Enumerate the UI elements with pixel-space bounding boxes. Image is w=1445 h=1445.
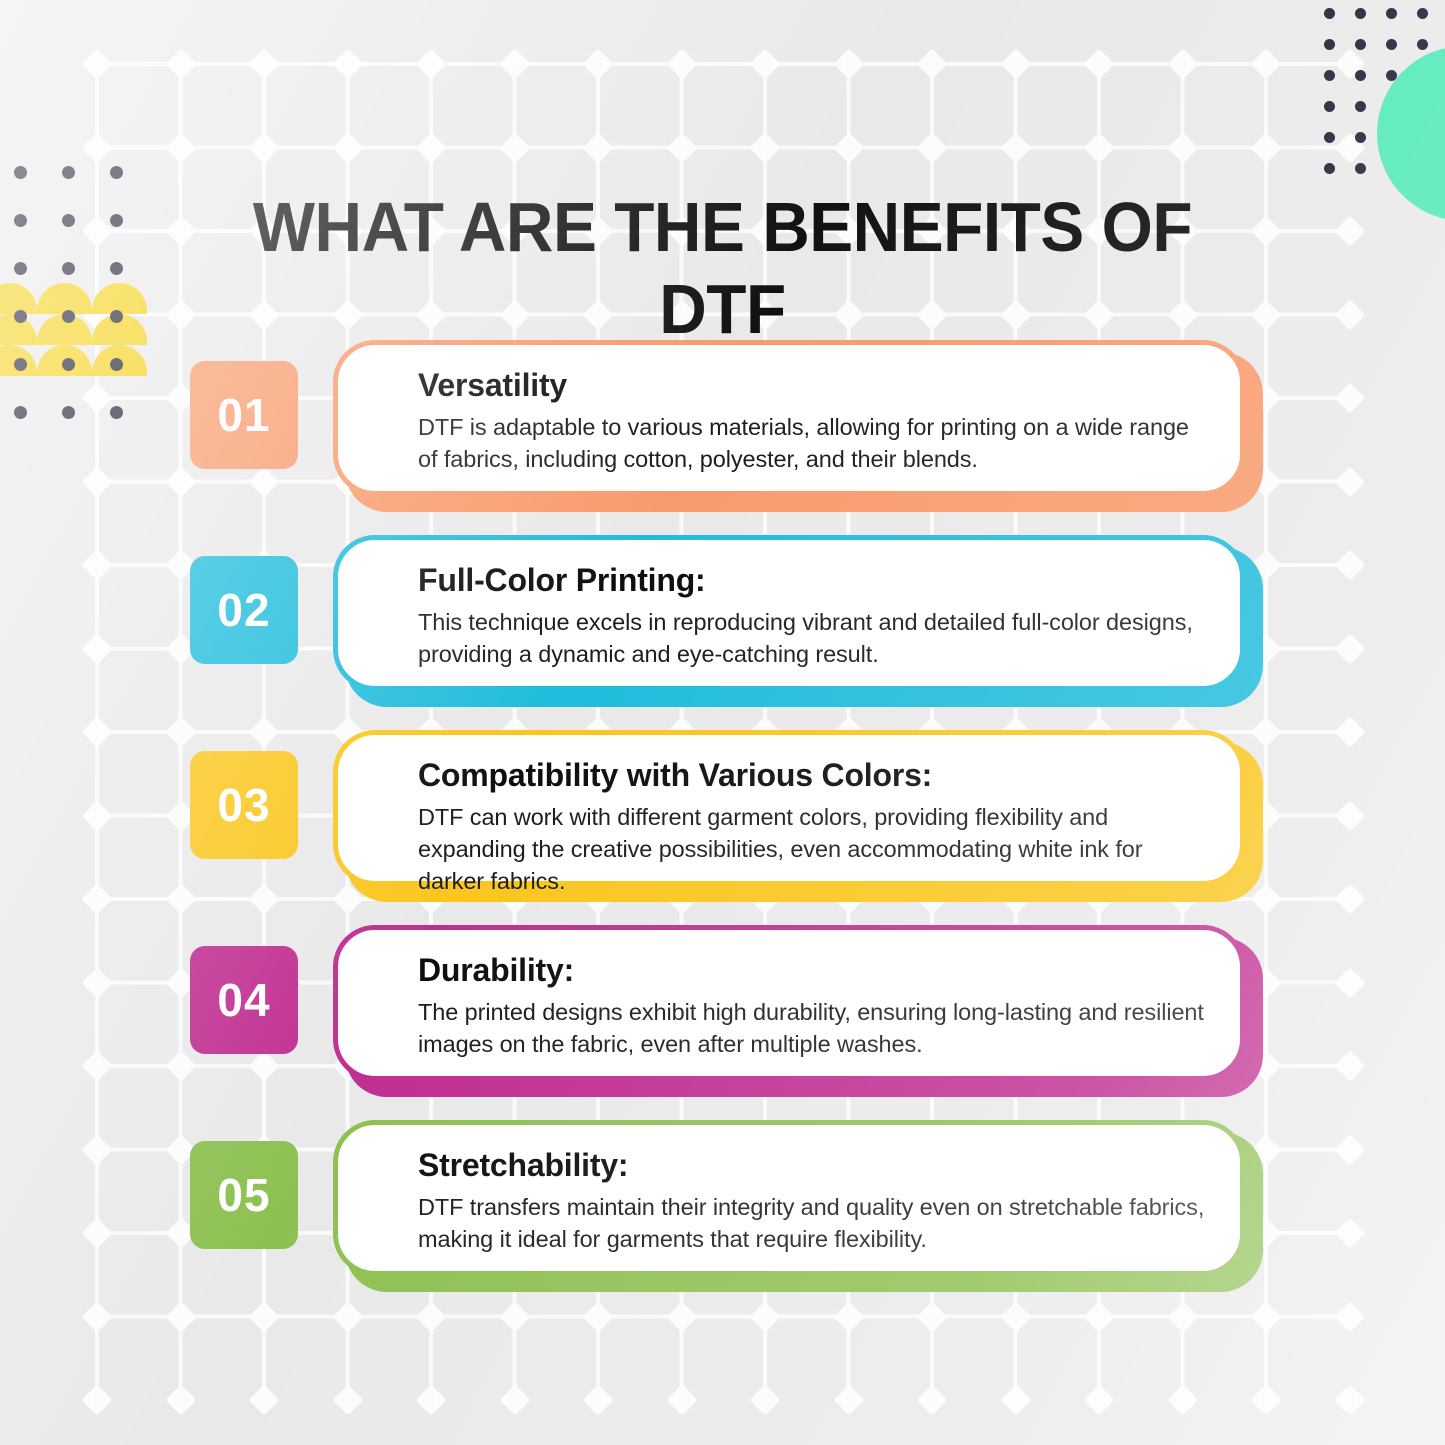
grid-diamond xyxy=(666,48,697,79)
grid-diamond xyxy=(916,48,947,79)
grid-diamond xyxy=(1167,1384,1198,1415)
decorative-dot xyxy=(1324,70,1335,81)
benefit-description: This technique excels in reproducing vib… xyxy=(418,607,1206,671)
benefit-card-wrapper: Compatibility with Various Colors:DTF ca… xyxy=(333,730,1263,902)
grid-diamond xyxy=(1000,132,1031,163)
decorative-dot xyxy=(1386,39,1397,50)
grid-diamond xyxy=(1250,1384,1281,1415)
benefit-number-badge: 03 xyxy=(190,751,298,859)
benefit-number-badge: 01 xyxy=(190,361,298,469)
grid-diamond xyxy=(582,1384,613,1415)
grid-diamond xyxy=(1083,1384,1114,1415)
benefit-heading: Full-Color Printing: xyxy=(418,562,1206,599)
grid-diamond xyxy=(165,1384,196,1415)
benefit-card: VersatilityDTF is adaptable to various m… xyxy=(333,340,1245,496)
benefit-number: 03 xyxy=(217,778,270,832)
decorative-dot xyxy=(1324,132,1335,143)
grid-diamond xyxy=(165,48,196,79)
decorative-dot xyxy=(14,310,27,323)
benefit-number-badge: 04 xyxy=(190,946,298,1054)
decorative-dot xyxy=(110,214,123,227)
grid-diamond xyxy=(833,48,864,79)
grid-diamond xyxy=(1250,48,1281,79)
decorative-dot xyxy=(14,262,27,275)
decorative-dot xyxy=(1355,101,1366,112)
grid-diamond xyxy=(415,132,446,163)
benefit-card-wrapper: Stretchability:DTF transfers maintain th… xyxy=(333,1120,1263,1292)
decorative-dot xyxy=(14,166,27,179)
grid-diamond xyxy=(1083,132,1114,163)
benefit-heading: Durability: xyxy=(418,952,1206,989)
benefit-number: 05 xyxy=(217,1168,270,1222)
benefit-card: Full-Color Printing:This technique excel… xyxy=(333,535,1245,691)
benefit-description: DTF transfers maintain their integrity a… xyxy=(418,1192,1206,1256)
decorative-dot xyxy=(1324,8,1335,19)
benefit-card-wrapper: Full-Color Printing:This technique excel… xyxy=(333,535,1263,707)
benefit-number: 04 xyxy=(217,973,270,1027)
grid-diamond xyxy=(666,1384,697,1415)
grid-diamond xyxy=(81,48,112,79)
page-title-line-1: WHAT ARE THE BENEFITS OF DTF xyxy=(253,188,1192,348)
grid-diamond xyxy=(1334,299,1365,330)
decorative-dot xyxy=(1355,39,1366,50)
benefit-card-wrapper: VersatilityDTF is adaptable to various m… xyxy=(333,340,1263,512)
decorative-dot xyxy=(62,262,75,275)
grid-diamond xyxy=(248,132,279,163)
grid-diamond xyxy=(749,48,780,79)
grid-diamond xyxy=(415,48,446,79)
grid-diamond xyxy=(833,1384,864,1415)
grid-diamond xyxy=(666,132,697,163)
grid-diamond xyxy=(165,132,196,163)
grid-diamond xyxy=(582,132,613,163)
benefit-heading: Versatility xyxy=(418,367,1206,404)
grid-diamond xyxy=(499,48,530,79)
grid-diamond xyxy=(1167,132,1198,163)
grid-diamond xyxy=(916,1384,947,1415)
decorative-dot xyxy=(1355,8,1366,19)
grid-diamond xyxy=(415,1384,446,1415)
decorative-dot xyxy=(62,214,75,227)
decorative-dot xyxy=(1355,163,1366,174)
grid-diamond xyxy=(749,1384,780,1415)
benefit-card-wrapper: Durability:The printed designs exhibit h… xyxy=(333,925,1263,1097)
grid-diamond xyxy=(833,132,864,163)
benefit-item: 04Durability:The printed designs exhibit… xyxy=(0,925,1445,1120)
benefit-description: DTF is adaptable to various materials, a… xyxy=(418,412,1206,476)
decorative-dot xyxy=(110,262,123,275)
benefit-heading: Stretchability: xyxy=(418,1147,1206,1184)
grid-diamond xyxy=(248,48,279,79)
benefit-heading: Compatibility with Various Colors: xyxy=(418,757,1206,794)
grid-diamond xyxy=(1334,1384,1365,1415)
grid-diamond xyxy=(332,1384,363,1415)
decorative-dot xyxy=(14,214,27,227)
grid-diamond xyxy=(248,1384,279,1415)
grid-diamond xyxy=(1083,48,1114,79)
benefit-item: 01VersatilityDTF is adaptable to various… xyxy=(0,340,1445,535)
decorative-dot xyxy=(1324,101,1335,112)
benefit-card: Compatibility with Various Colors:DTF ca… xyxy=(333,730,1245,886)
benefit-number: 01 xyxy=(217,388,270,442)
benefit-item: 05Stretchability:DTF transfers maintain … xyxy=(0,1120,1445,1315)
grid-diamond xyxy=(81,132,112,163)
grid-diamond xyxy=(499,1384,530,1415)
grid-diamond xyxy=(1250,132,1281,163)
grid-diamond xyxy=(1000,48,1031,79)
decorative-dot xyxy=(110,310,123,323)
benefit-description: DTF can work with different garment colo… xyxy=(418,802,1206,898)
grid-diamond xyxy=(1334,215,1365,246)
decorative-dot xyxy=(1417,8,1428,19)
benefit-number: 02 xyxy=(217,583,270,637)
grid-diamond xyxy=(332,132,363,163)
benefits-list: 01VersatilityDTF is adaptable to various… xyxy=(0,340,1445,1315)
grid-diamond xyxy=(332,48,363,79)
grid-diamond xyxy=(81,1384,112,1415)
decorative-dot xyxy=(1324,163,1335,174)
decorative-dot xyxy=(1386,8,1397,19)
decorative-dot xyxy=(1324,39,1335,50)
benefit-card: Durability:The printed designs exhibit h… xyxy=(333,925,1245,1081)
benefit-item: 02Full-Color Printing:This technique exc… xyxy=(0,535,1445,730)
grid-diamond xyxy=(1000,1384,1031,1415)
benefit-item: 03Compatibility with Various Colors:DTF … xyxy=(0,730,1445,925)
grid-diamond xyxy=(916,132,947,163)
grid-diamond xyxy=(582,48,613,79)
decorative-dot xyxy=(62,166,75,179)
grid-diamond xyxy=(1167,48,1198,79)
decorative-dot xyxy=(110,166,123,179)
benefit-card: Stretchability:DTF transfers maintain th… xyxy=(333,1120,1245,1276)
grid-diamond xyxy=(499,132,530,163)
decorative-dot xyxy=(1355,70,1366,81)
grid-diamond xyxy=(749,132,780,163)
benefit-description: The printed designs exhibit high durabil… xyxy=(418,997,1206,1061)
decorative-dot xyxy=(1355,132,1366,143)
decorative-dot xyxy=(62,310,75,323)
benefit-number-badge: 05 xyxy=(190,1141,298,1249)
decorative-dot xyxy=(1417,39,1428,50)
benefit-number-badge: 02 xyxy=(190,556,298,664)
